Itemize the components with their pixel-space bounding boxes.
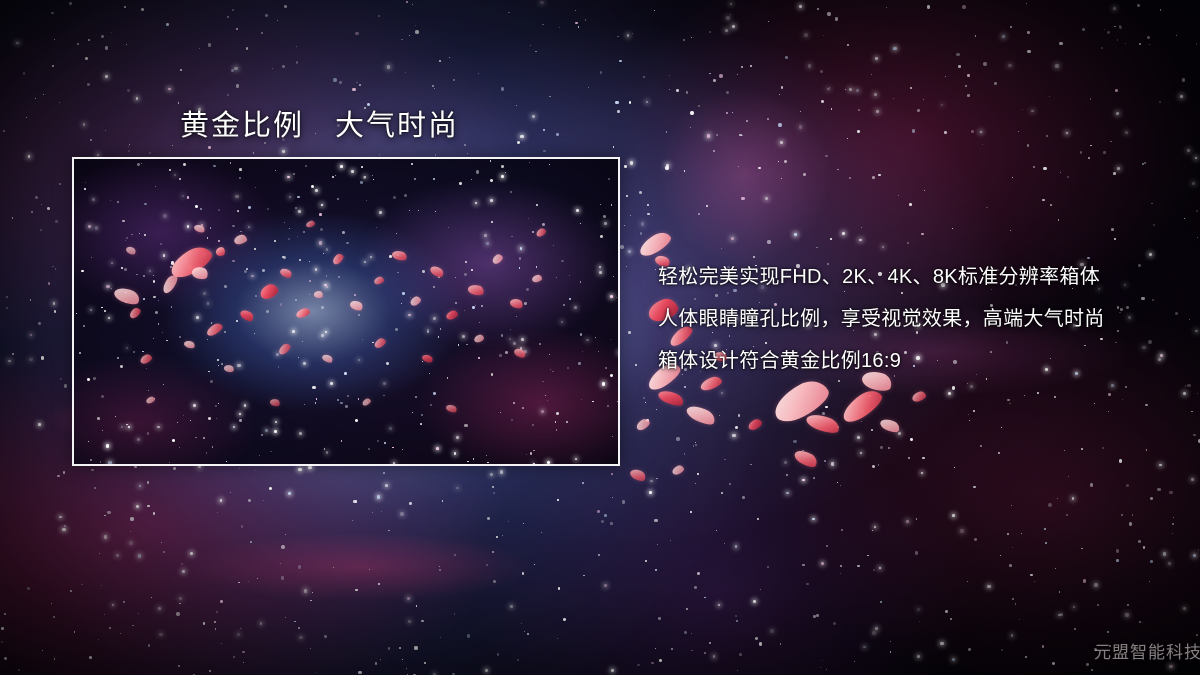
star	[79, 352, 81, 354]
star	[501, 175, 504, 178]
star	[384, 442, 386, 444]
star	[230, 162, 232, 164]
star	[267, 208, 269, 210]
star	[481, 305, 483, 307]
star	[309, 280, 311, 282]
star	[287, 176, 290, 179]
star	[215, 405, 217, 407]
star	[120, 365, 123, 368]
star	[323, 253, 324, 254]
star	[420, 423, 422, 425]
star	[337, 399, 339, 401]
star	[491, 221, 493, 223]
star	[126, 237, 128, 239]
star	[203, 437, 205, 439]
star	[513, 402, 515, 404]
star	[500, 412, 501, 413]
star	[490, 179, 493, 182]
star	[133, 351, 135, 353]
star	[239, 168, 242, 171]
star	[117, 201, 119, 203]
star	[524, 302, 527, 305]
star	[200, 208, 202, 210]
star	[255, 295, 257, 297]
star	[611, 204, 613, 206]
star	[435, 211, 436, 212]
star	[422, 361, 423, 362]
star	[254, 248, 256, 250]
star	[95, 226, 98, 229]
star	[270, 451, 271, 452]
star	[216, 418, 217, 419]
star	[162, 332, 163, 333]
star	[163, 214, 166, 217]
star	[143, 275, 145, 277]
body-line-3: 箱体设计符合黄金比例16:9	[658, 340, 1158, 382]
star	[455, 277, 456, 278]
star	[567, 367, 569, 369]
star	[412, 412, 413, 413]
star	[355, 419, 358, 422]
star	[612, 436, 613, 437]
star	[319, 213, 322, 216]
star	[342, 231, 345, 234]
star	[88, 441, 89, 442]
star	[246, 268, 248, 270]
star	[224, 285, 227, 288]
star	[478, 357, 480, 359]
star	[157, 426, 160, 429]
page-title: 黄金比例 大气时尚	[180, 102, 459, 144]
star	[155, 186, 156, 187]
star	[346, 242, 349, 245]
star	[208, 417, 211, 420]
star	[83, 325, 85, 327]
star	[299, 432, 302, 435]
star	[471, 179, 472, 180]
star	[218, 209, 220, 211]
star	[576, 209, 579, 212]
star	[464, 273, 467, 276]
star	[533, 450, 535, 452]
star	[106, 285, 109, 288]
star	[472, 306, 475, 309]
star	[529, 162, 530, 163]
star	[430, 404, 432, 406]
star	[124, 268, 127, 271]
star	[218, 403, 219, 404]
star	[302, 341, 303, 342]
star	[569, 275, 570, 276]
star	[530, 452, 532, 454]
star	[433, 317, 436, 320]
star	[476, 170, 479, 173]
star	[368, 448, 371, 451]
star	[386, 362, 389, 365]
star	[93, 377, 96, 380]
star	[501, 334, 503, 336]
star	[447, 377, 449, 379]
star	[239, 419, 242, 422]
body-line-2: 人体眼睛瞳孔比例，享受视觉效果，高端大气时尚	[658, 298, 1158, 340]
star	[510, 329, 511, 330]
star	[555, 421, 557, 423]
star	[251, 275, 254, 278]
star	[110, 200, 111, 201]
star	[232, 260, 235, 263]
star	[304, 404, 305, 405]
star	[153, 338, 154, 339]
star	[358, 398, 360, 400]
star	[326, 286, 328, 288]
star	[266, 310, 269, 313]
star	[183, 163, 186, 166]
star	[510, 191, 512, 193]
star	[599, 266, 601, 268]
star	[600, 204, 601, 205]
star	[187, 225, 190, 228]
star	[526, 288, 529, 291]
star	[610, 374, 613, 377]
star	[136, 274, 138, 276]
star	[335, 175, 336, 176]
star	[183, 415, 184, 416]
star	[126, 347, 128, 349]
star	[404, 194, 407, 197]
watermark-label: 元盟智能科技	[1094, 638, 1200, 663]
star	[396, 233, 397, 234]
star	[298, 357, 299, 358]
star	[143, 298, 145, 300]
star	[475, 305, 476, 306]
star	[569, 298, 571, 300]
star	[144, 203, 147, 206]
photo-starfield	[74, 159, 618, 464]
star	[190, 420, 191, 421]
star	[549, 164, 550, 165]
star	[393, 196, 396, 199]
star	[363, 176, 366, 179]
star	[602, 382, 605, 385]
star	[158, 323, 160, 325]
star	[289, 228, 290, 229]
star	[259, 455, 260, 456]
star	[88, 225, 91, 228]
star	[358, 314, 360, 316]
star	[169, 462, 170, 463]
star	[108, 461, 111, 464]
star	[479, 322, 480, 323]
star	[462, 335, 465, 338]
star	[598, 351, 599, 352]
star	[532, 424, 533, 425]
star	[210, 380, 213, 383]
star	[580, 333, 582, 335]
star	[397, 272, 398, 273]
star	[174, 174, 177, 177]
star	[312, 386, 315, 389]
star	[433, 178, 435, 180]
star	[499, 354, 502, 357]
star	[347, 395, 349, 397]
framed-photo	[72, 157, 620, 466]
star	[383, 395, 385, 397]
star	[284, 222, 285, 223]
star	[549, 354, 551, 356]
star	[158, 300, 159, 301]
star	[265, 429, 268, 432]
star	[235, 195, 238, 198]
star	[486, 242, 489, 245]
star	[552, 371, 554, 373]
star	[248, 206, 251, 209]
star	[603, 215, 606, 218]
star	[595, 337, 596, 338]
star	[226, 461, 227, 462]
star	[471, 269, 473, 271]
star	[332, 176, 334, 178]
star	[239, 177, 241, 179]
star	[100, 461, 101, 462]
star	[608, 178, 610, 180]
star	[236, 320, 238, 322]
star	[326, 451, 329, 454]
star	[85, 182, 86, 183]
star	[580, 281, 582, 283]
star	[372, 175, 373, 176]
star	[101, 307, 103, 309]
star	[297, 196, 300, 199]
star	[87, 378, 90, 381]
star	[408, 314, 410, 316]
star	[427, 329, 429, 331]
star	[522, 407, 524, 409]
star	[467, 461, 469, 463]
star	[293, 173, 295, 175]
star	[340, 165, 343, 168]
star	[330, 382, 333, 385]
star	[556, 412, 559, 415]
star	[108, 317, 111, 320]
star	[422, 270, 425, 273]
star	[206, 452, 208, 454]
star	[315, 402, 317, 404]
star	[345, 405, 348, 408]
star	[212, 446, 214, 448]
star	[604, 222, 607, 225]
star	[505, 351, 508, 354]
star	[240, 231, 242, 233]
star	[358, 359, 360, 361]
star	[392, 447, 394, 449]
star	[473, 458, 474, 459]
star	[486, 455, 487, 456]
star	[581, 399, 582, 400]
star	[193, 404, 196, 407]
star	[195, 205, 198, 208]
star	[418, 210, 419, 211]
star	[454, 452, 457, 455]
star	[207, 237, 209, 239]
star	[102, 430, 103, 431]
body-text-block: 轻松完美实现FHD、2K、4K、8K标准分辨率箱体 人体眼睛瞳孔比例，享受视觉效…	[658, 256, 1158, 382]
star	[121, 426, 123, 428]
star	[521, 338, 524, 341]
star	[364, 261, 366, 263]
star	[389, 427, 392, 430]
star	[101, 395, 104, 398]
star	[556, 277, 557, 278]
star	[316, 398, 317, 399]
star	[341, 440, 343, 442]
star	[137, 163, 140, 166]
star	[195, 437, 197, 439]
star	[213, 165, 216, 168]
star	[196, 316, 199, 319]
star	[221, 363, 223, 365]
star	[511, 419, 513, 421]
star	[274, 430, 277, 433]
star	[111, 262, 113, 264]
star	[303, 362, 306, 365]
star	[142, 351, 144, 353]
star	[128, 426, 131, 429]
star	[275, 421, 277, 423]
star	[153, 275, 154, 276]
star	[528, 218, 529, 219]
star	[516, 316, 517, 317]
star	[393, 462, 395, 464]
star	[354, 294, 356, 296]
star	[97, 417, 100, 420]
body-line-1: 轻松完美实现FHD、2K、4K、8K标准分辨率箱体	[658, 256, 1158, 298]
star	[574, 306, 577, 309]
star	[550, 369, 551, 370]
star	[321, 306, 324, 309]
star	[566, 421, 567, 422]
presentation-slide: 黄金比例 大气时尚 轻松完美实现FHD、2K、4K、8K标准分辨率箱体 人体眼睛…	[0, 0, 1200, 675]
star	[513, 342, 516, 345]
star	[526, 454, 528, 456]
star	[578, 362, 581, 365]
star	[244, 270, 247, 273]
star	[505, 172, 506, 173]
star	[351, 170, 354, 173]
star	[610, 339, 611, 340]
star	[117, 357, 118, 358]
star	[541, 410, 544, 413]
star	[464, 424, 467, 427]
star	[179, 447, 180, 448]
star	[224, 331, 226, 333]
star	[146, 368, 147, 369]
star	[311, 185, 314, 188]
star	[466, 344, 468, 346]
star	[599, 271, 602, 274]
star	[160, 243, 162, 245]
star	[361, 166, 363, 168]
star	[421, 414, 424, 417]
star	[383, 382, 386, 385]
star	[370, 256, 373, 259]
star	[217, 359, 219, 361]
star	[533, 463, 535, 464]
star	[325, 331, 328, 334]
star	[121, 267, 123, 269]
star	[295, 207, 297, 209]
star	[519, 267, 521, 269]
star	[147, 432, 150, 435]
star	[144, 234, 146, 236]
star	[509, 338, 511, 340]
star	[238, 211, 239, 212]
star	[556, 429, 558, 431]
star	[177, 422, 178, 423]
star	[520, 247, 523, 250]
star	[90, 309, 93, 312]
star	[459, 182, 462, 185]
star	[149, 270, 152, 273]
star	[104, 310, 106, 312]
star	[90, 459, 92, 461]
star	[254, 333, 255, 334]
star	[340, 402, 343, 405]
star	[402, 449, 403, 450]
star	[182, 195, 184, 197]
star	[153, 296, 156, 299]
star	[324, 448, 326, 450]
star	[414, 178, 417, 181]
star	[321, 204, 323, 206]
star	[610, 295, 613, 298]
star	[338, 276, 340, 278]
star	[547, 461, 550, 464]
star	[547, 400, 549, 402]
star	[163, 254, 166, 257]
star	[326, 248, 329, 251]
star	[163, 384, 164, 385]
star	[305, 165, 308, 168]
star	[362, 339, 363, 340]
star	[208, 371, 210, 373]
star	[600, 235, 603, 238]
star	[84, 188, 86, 190]
star	[617, 401, 618, 403]
star	[458, 344, 460, 346]
star	[137, 438, 140, 441]
star	[179, 178, 181, 180]
star	[155, 311, 158, 314]
star	[440, 328, 442, 330]
star	[580, 223, 581, 224]
star	[288, 238, 290, 240]
star	[433, 392, 436, 395]
star	[586, 339, 589, 342]
star	[475, 202, 478, 205]
star	[436, 447, 439, 450]
star	[456, 436, 459, 439]
star	[402, 292, 405, 295]
star	[187, 196, 189, 198]
star	[218, 240, 220, 242]
star	[326, 275, 328, 277]
star	[309, 294, 310, 295]
star	[366, 200, 367, 201]
star	[131, 234, 133, 236]
star	[409, 210, 410, 211]
star	[111, 288, 112, 289]
star	[122, 220, 125, 223]
